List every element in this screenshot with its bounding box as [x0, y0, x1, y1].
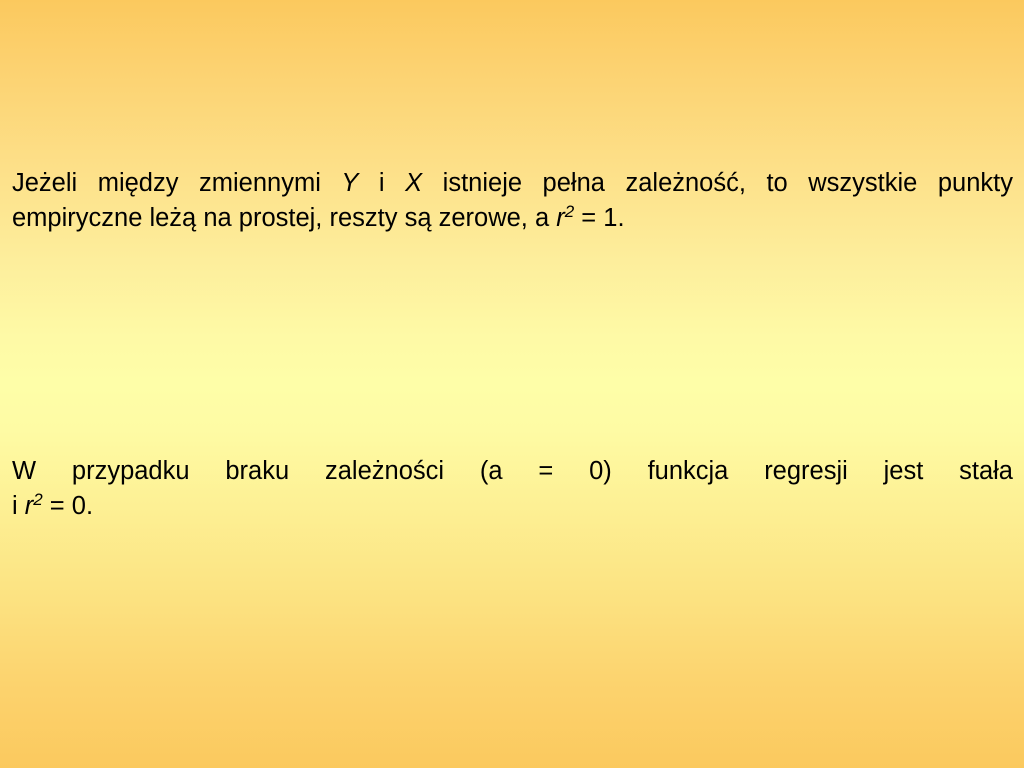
text-line: Jeżeli między zmiennymi Y i X istnieje p…: [12, 166, 1013, 201]
math-variable: r: [25, 492, 34, 520]
text-line: i r2 = 0.: [12, 489, 1013, 524]
presentation-slide: Jeżeli między zmiennymi Y i X istnieje p…: [0, 0, 1024, 768]
math-exponent: 2: [33, 490, 42, 509]
math-exponent: 2: [565, 202, 574, 221]
text-line: empiryczne leżą na prostej, reszty są ze…: [12, 201, 1013, 236]
math-variable: X: [405, 169, 422, 197]
paragraph-full-dependence: Jeżeli między zmiennymi Y i X istnieje p…: [12, 166, 1013, 236]
paragraph-no-dependence: W przypadku braku zależności (a = 0) fun…: [12, 454, 1013, 524]
math-variable: r: [556, 204, 565, 232]
text-line: W przypadku braku zależności (a = 0) fun…: [12, 454, 1013, 489]
math-variable: Y: [341, 169, 358, 197]
